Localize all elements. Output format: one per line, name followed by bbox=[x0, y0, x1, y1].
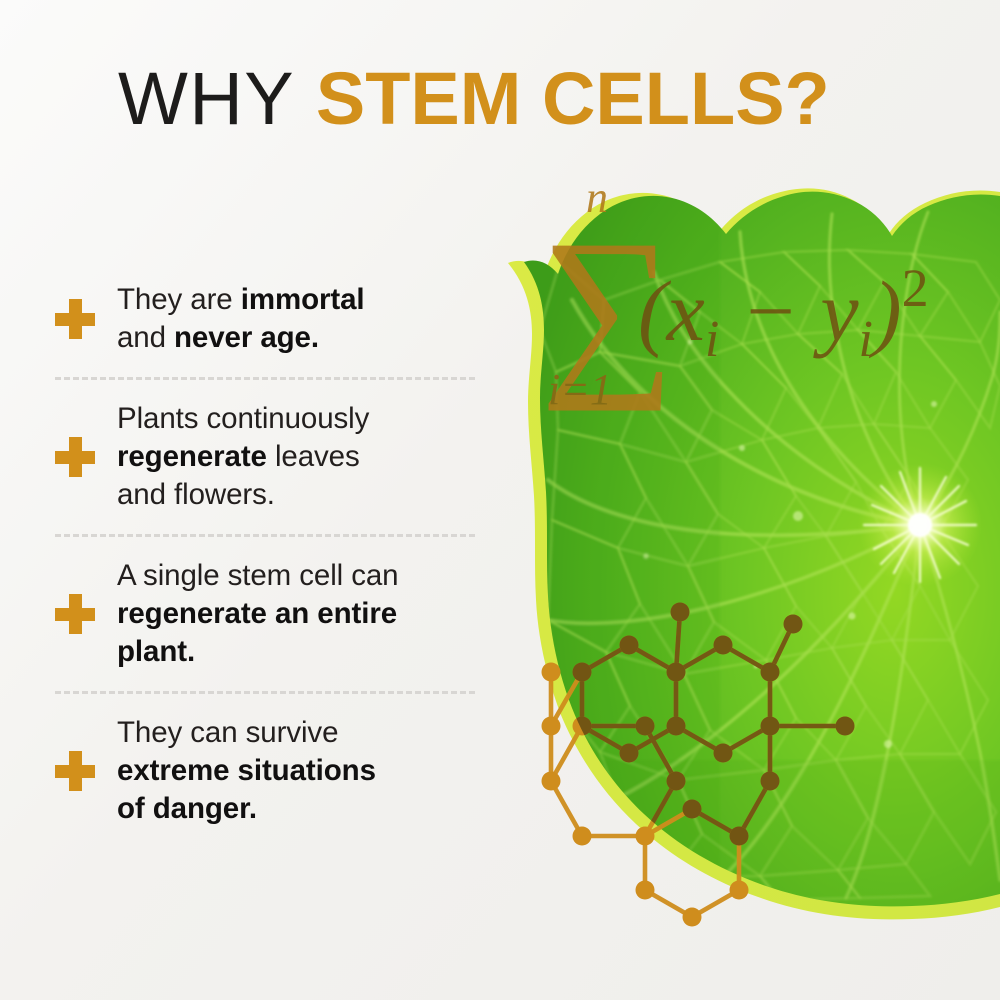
line-segment: A single stem cell can bbox=[117, 559, 398, 592]
infographic-canvas: n ∑ i=1 (xi − yi)2 bbox=[0, 0, 1000, 1000]
line-segment-bold: plant. bbox=[117, 635, 195, 668]
line-segment: They are bbox=[117, 283, 241, 316]
list-item: They can survive extreme situations of d… bbox=[55, 709, 485, 833]
page-title: WHY STEM CELLS? bbox=[118, 62, 830, 136]
line-segment: Plants continuously bbox=[117, 402, 369, 435]
list-item: They are immortal and never age. bbox=[55, 276, 485, 362]
line-segment-bold: never age. bbox=[174, 321, 319, 354]
list-item: A single stem cell can regenerate an ent… bbox=[55, 552, 485, 676]
line-segment: They can survive bbox=[117, 716, 338, 749]
line-segment-bold: regenerate an entire bbox=[117, 597, 397, 630]
line-segment-bold: regenerate bbox=[117, 440, 267, 473]
plus-icon bbox=[55, 594, 95, 634]
line-segment-bold: immortal bbox=[241, 283, 365, 316]
plus-icon bbox=[55, 437, 95, 477]
light-flare bbox=[858, 463, 982, 587]
list-item-text: Plants continuously regenerate leaves an… bbox=[117, 400, 369, 514]
line-segment-bold: extreme situations bbox=[117, 754, 376, 787]
plus-icon bbox=[55, 299, 95, 339]
formula-lower-limit: i=1 bbox=[548, 365, 612, 414]
plus-icon bbox=[55, 751, 95, 791]
list-item-text: A single stem cell can regenerate an ent… bbox=[117, 557, 398, 671]
line-segment: and bbox=[117, 321, 174, 354]
formula-body: (xi − yi)2 bbox=[638, 258, 929, 368]
title-part-why: WHY bbox=[118, 57, 316, 140]
list-item-text: They are immortal and never age. bbox=[117, 281, 365, 357]
line-segment-bold: of danger. bbox=[117, 792, 257, 825]
list-divider bbox=[55, 691, 475, 694]
list-item-text: They can survive extreme situations of d… bbox=[117, 714, 376, 828]
list-divider bbox=[55, 534, 475, 537]
list-divider bbox=[55, 377, 475, 380]
title-part-stem-cells: STEM CELLS? bbox=[316, 57, 830, 140]
line-segment: and flowers. bbox=[117, 478, 275, 511]
list-item: Plants continuously regenerate leaves an… bbox=[55, 395, 485, 519]
benefits-list: They are immortal and never age. Plants … bbox=[55, 276, 485, 833]
line-segment: leaves bbox=[267, 440, 360, 473]
